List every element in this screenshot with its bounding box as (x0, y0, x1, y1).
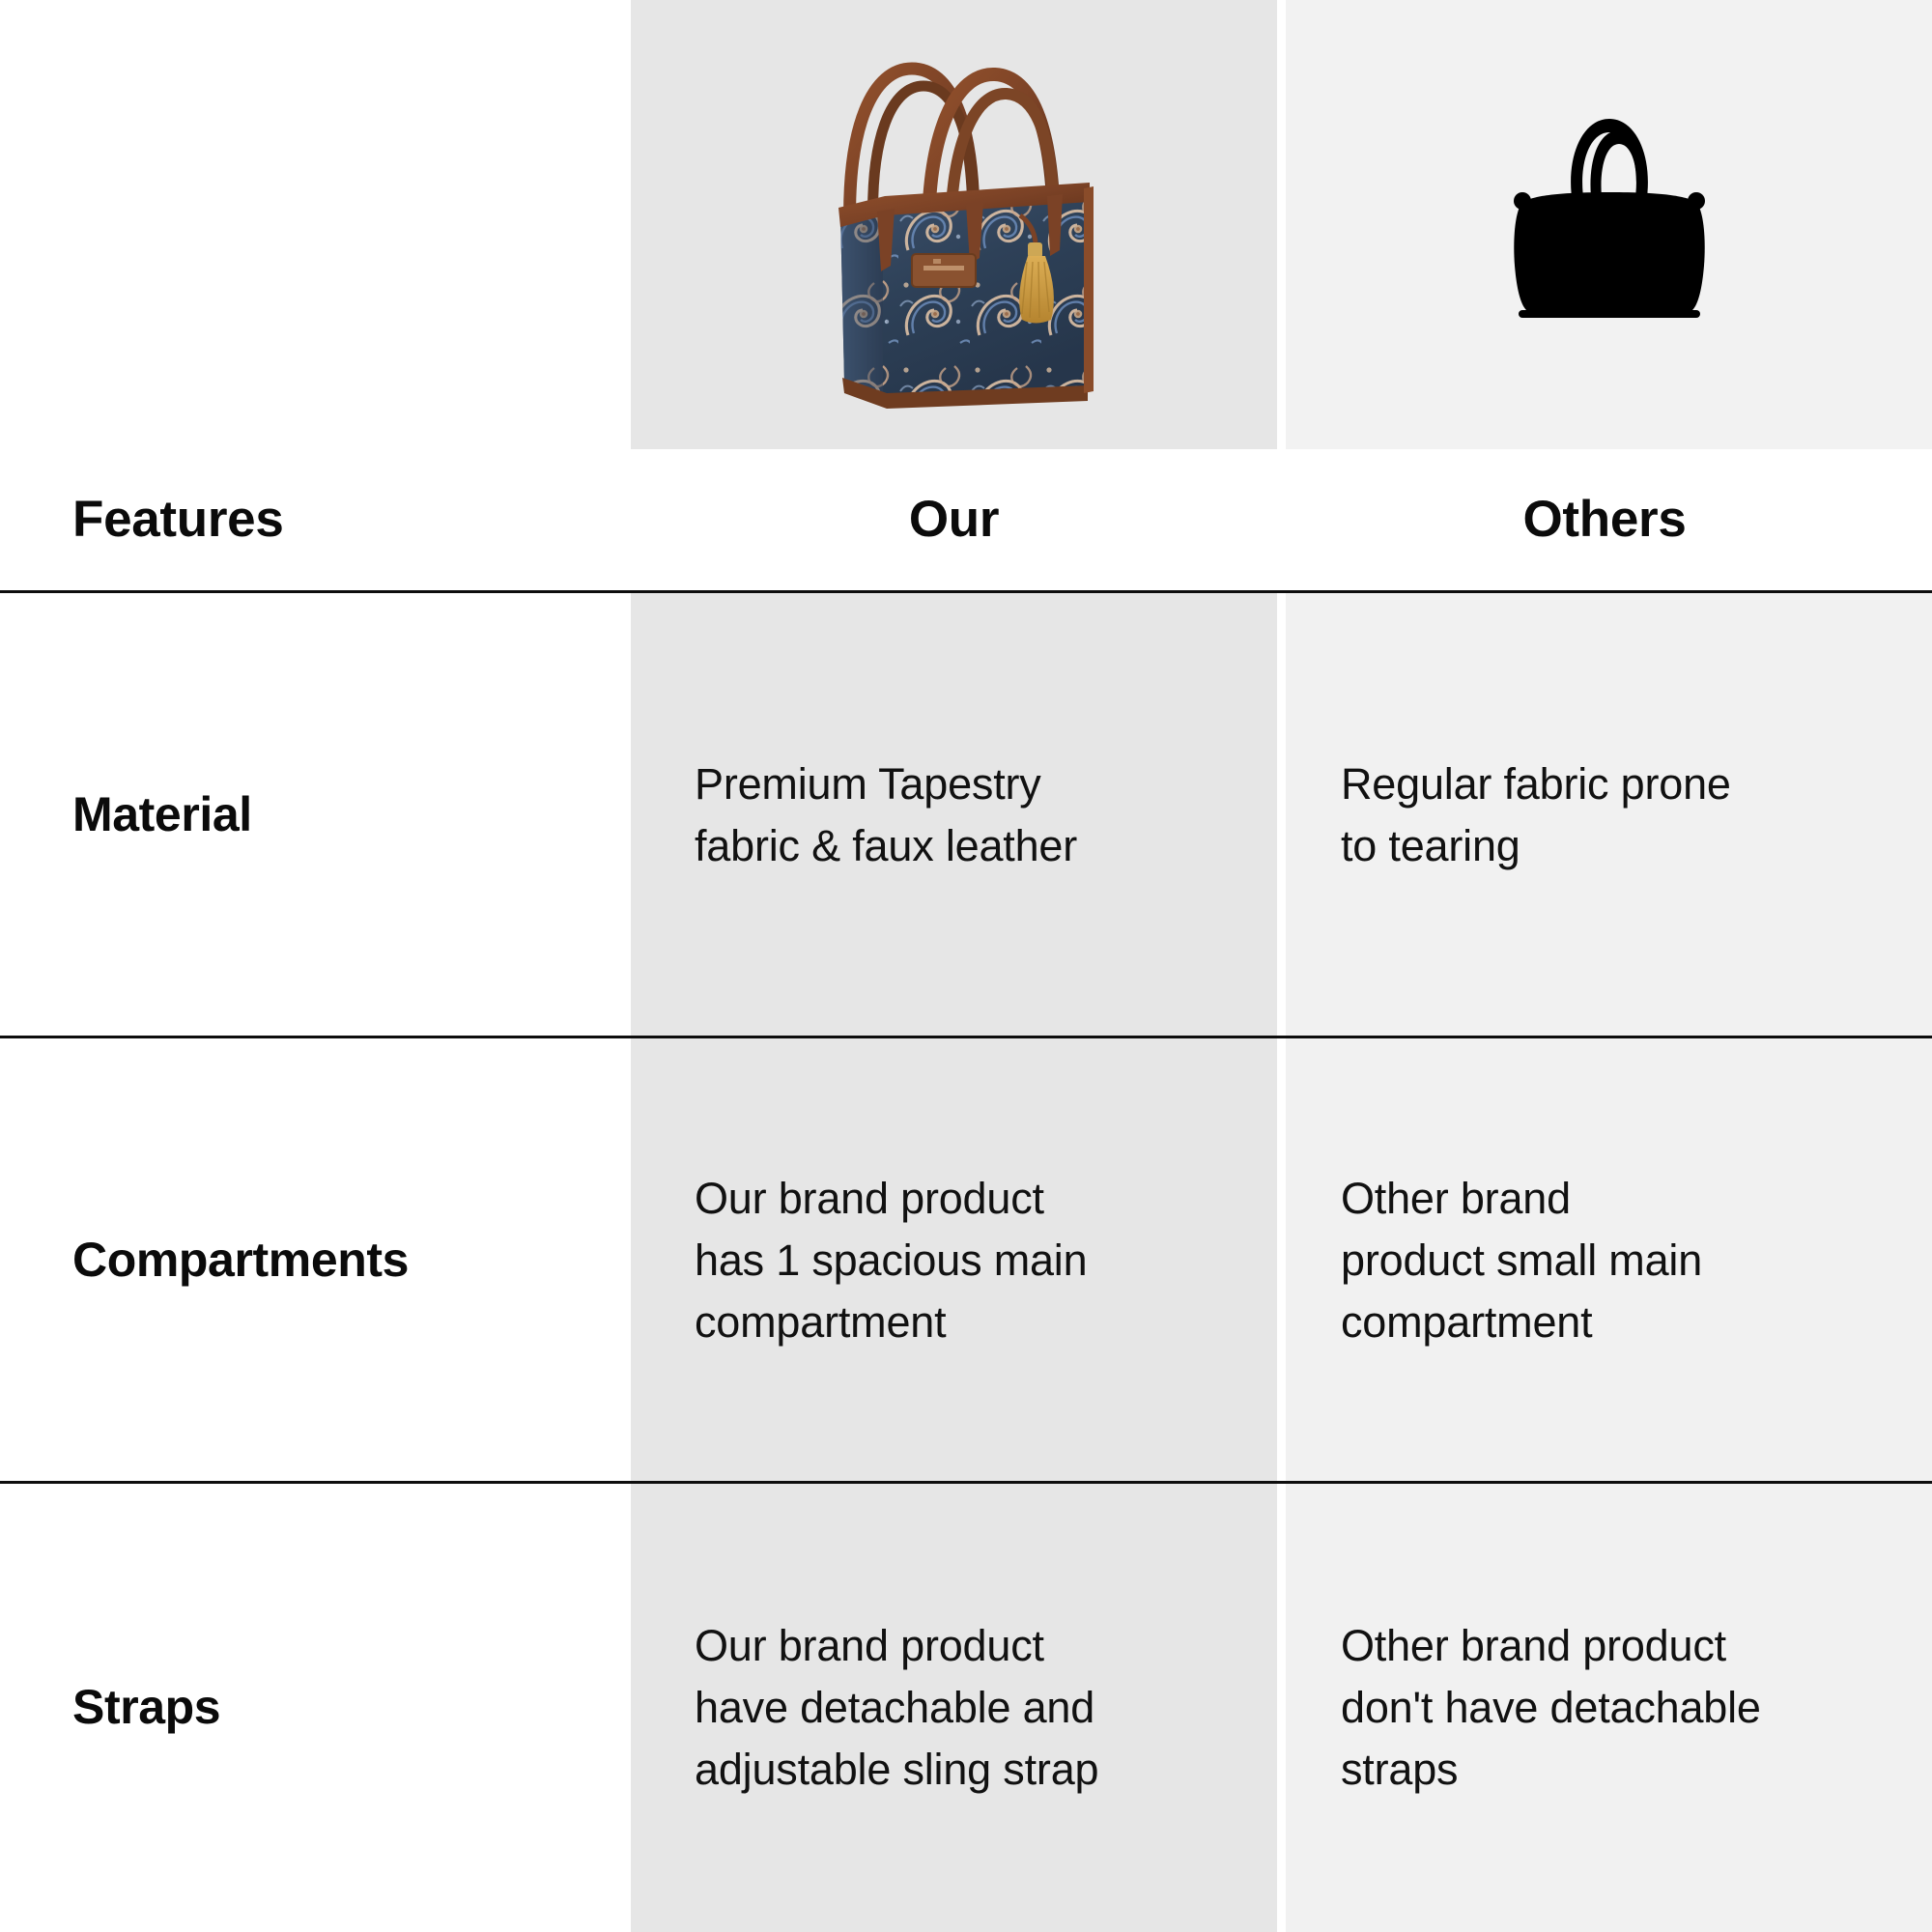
others-value: Other brand product don't have detachabl… (1341, 1615, 1761, 1801)
our-column-header: Our (909, 492, 999, 548)
others-cell-material: Regular fabric prone to tearing (1277, 592, 1932, 1037)
others-cell-compartments: Other brand product small main compartme… (1277, 1038, 1932, 1483)
header-cell-others: Others (1277, 449, 1932, 591)
our-value: Our brand product have detachable and ad… (695, 1615, 1098, 1801)
our-value: Premium Tapestry fabric & faux leather (695, 753, 1077, 877)
table-row: Straps Our brand product have detachable… (0, 1484, 1932, 1932)
our-cell-material: Premium Tapestry fabric & faux leather (631, 592, 1277, 1037)
table-row: Compartments Our brand product has 1 spa… (0, 1038, 1932, 1483)
our-cell-compartments: Our brand product has 1 spacious main co… (631, 1038, 1277, 1483)
feature-cell-compartments: Compartments (0, 1038, 631, 1483)
others-column-header: Others (1522, 492, 1686, 548)
feature-label: Straps (72, 1680, 220, 1736)
features-column-header: Features (72, 492, 284, 548)
others-value: Regular fabric prone to tearing (1341, 753, 1731, 877)
table-header-row: Features Our Others (0, 449, 1932, 591)
product-comparison-table: Features Our Others Material Premium Tap… (0, 0, 1932, 1932)
feature-cell-straps: Straps (0, 1484, 631, 1932)
header-cell-features: Features (0, 449, 631, 591)
header-cell-our: Our (631, 449, 1277, 591)
our-value: Our brand product has 1 spacious main co… (695, 1168, 1087, 1353)
feature-label: Compartments (72, 1233, 409, 1289)
feature-label: Material (72, 787, 252, 843)
table-row: Material Premium Tapestry fabric & faux … (0, 592, 1932, 1037)
our-cell-straps: Our brand product have detachable and ad… (631, 1484, 1277, 1932)
others-value: Other brand product small main compartme… (1341, 1168, 1702, 1353)
feature-cell-material: Material (0, 592, 631, 1037)
others-cell-straps: Other brand product don't have detachabl… (1277, 1484, 1932, 1932)
